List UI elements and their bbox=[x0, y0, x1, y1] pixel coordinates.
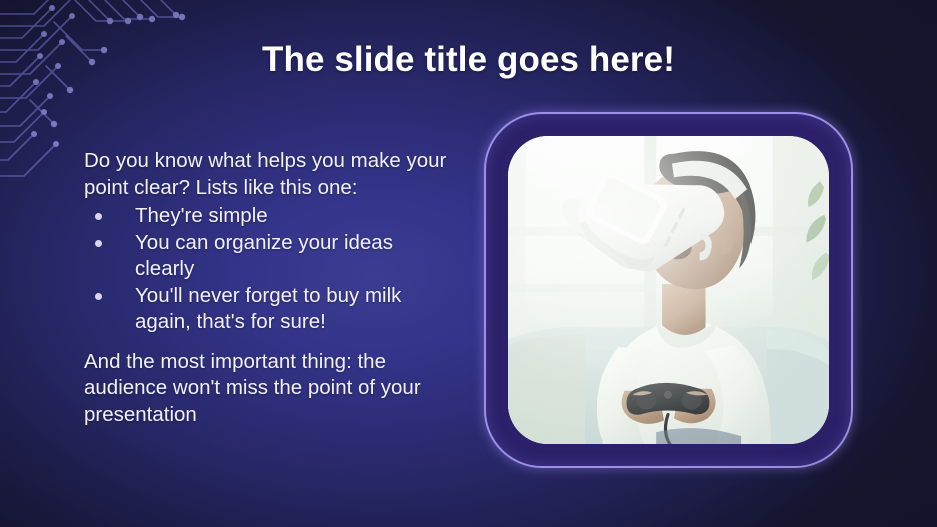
list-item-label: They're simple bbox=[135, 204, 268, 227]
closing-paragraph: And the most important thing: the audien… bbox=[84, 349, 454, 429]
bullet-dot-icon bbox=[95, 213, 102, 220]
list-item: They're simple bbox=[84, 203, 454, 230]
presentation-slide: The slide title goes here! Do you know w… bbox=[0, 0, 937, 527]
slide-title: The slide title goes here! bbox=[0, 40, 937, 80]
bullet-dot-icon bbox=[95, 240, 102, 247]
list-item: You can organize your ideas clearly bbox=[84, 230, 454, 283]
list-item-label: You'll never forget to buy milk again, t… bbox=[135, 284, 401, 334]
list-item: You'll never forget to buy milk again, t… bbox=[84, 283, 454, 336]
list-item-label: You can organize your ideas clearly bbox=[135, 231, 393, 281]
photo-alt-text: Man wearing a white VR headset holding a… bbox=[508, 136, 509, 137]
slide-body: Do you know what helps you make your poi… bbox=[84, 148, 454, 428]
image-frame: Man wearing a white VR headset holding a… bbox=[484, 112, 853, 468]
intro-paragraph: Do you know what helps you make your poi… bbox=[84, 148, 454, 201]
bullet-dot-icon bbox=[95, 293, 102, 300]
bullet-list: They're simple You can organize your ide… bbox=[84, 203, 454, 336]
slide-photo: Man wearing a white VR headset holding a… bbox=[508, 136, 829, 444]
